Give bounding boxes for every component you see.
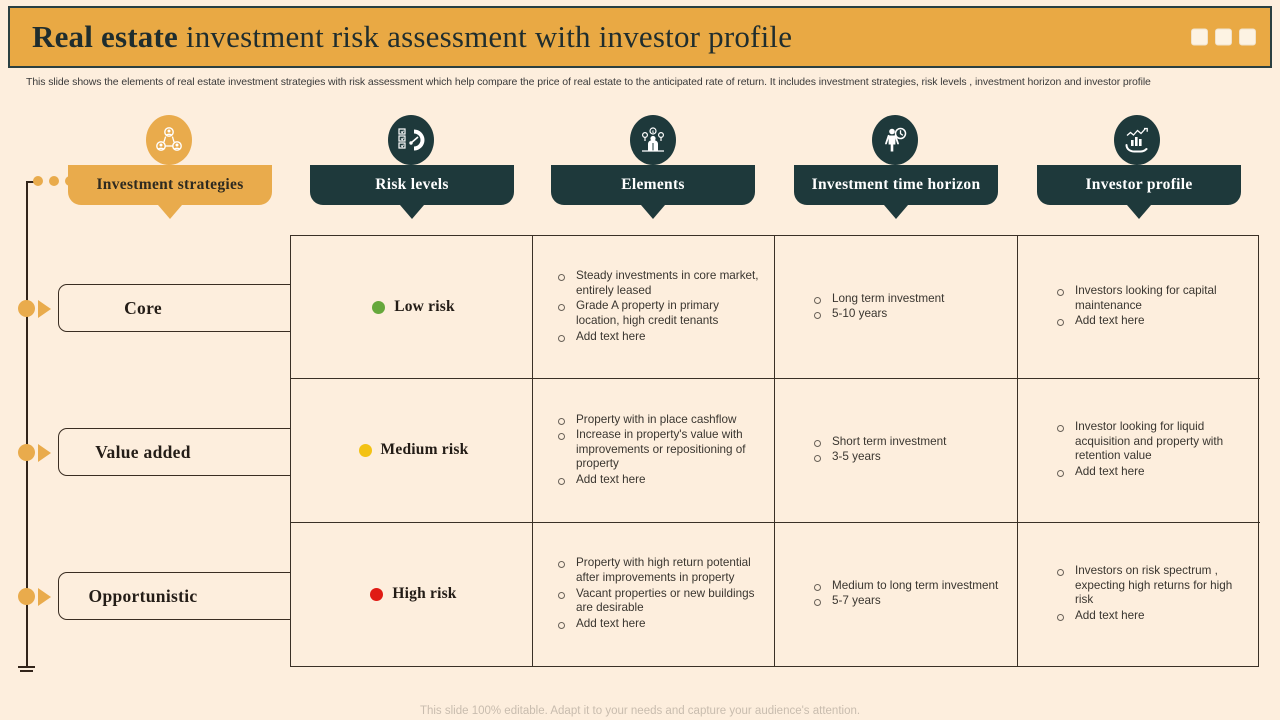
bullet-list: Medium to long term investment 5-7 years	[809, 579, 1005, 610]
people-group-icon: $	[630, 115, 676, 165]
column-header-investor-profile[interactable]: Investor profile	[1037, 165, 1241, 205]
bullet-list: Investors looking for capital maintenanc…	[1052, 284, 1248, 330]
list-item: Add text here	[553, 330, 762, 345]
rail-dot-2	[49, 176, 59, 186]
strategy-label: Value added	[95, 442, 191, 463]
risk-level-label: High risk	[392, 585, 456, 603]
risk-dot-medium-icon	[359, 444, 372, 457]
bullet-list: Investors on risk spectrum , expecting h…	[1052, 564, 1248, 624]
column-header-label: Risk levels	[375, 176, 448, 194]
page-title-bold: Real estate	[32, 19, 178, 54]
rail-node-core	[18, 300, 35, 317]
rail-arrow-core-icon	[38, 300, 51, 318]
column-header-label: Investor profile	[1085, 176, 1192, 194]
slide-description: This slide shows the elements of real es…	[26, 75, 1251, 89]
list-item: Grade A property in primary location, hi…	[553, 299, 762, 328]
footer-note: This slide 100% editable. Adapt it to yo…	[0, 705, 1280, 717]
list-item: 3-5 years	[809, 450, 1005, 465]
window-box-2[interactable]	[1215, 29, 1232, 46]
chevron-down-icon	[158, 205, 182, 219]
list-item: Investors on risk spectrum , expecting h…	[1052, 564, 1248, 608]
list-item: 5-7 years	[809, 594, 1005, 609]
column-header-risk-levels[interactable]: Risk levels	[310, 165, 514, 205]
rail-foot-line-2	[20, 670, 33, 672]
bullet-list: Long term investment 5-10 years	[809, 292, 1005, 323]
profile-cell-row-3: Investors on risk spectrum , expecting h…	[1018, 523, 1260, 666]
list-item: Investor looking for liquid acquisition …	[1052, 420, 1248, 464]
table-row: Medium risk	[291, 379, 533, 522]
horizon-cell-row-3: Medium to long term investment 5-7 years	[775, 523, 1018, 666]
rail-dot-3	[65, 176, 75, 186]
column-header-label: Elements	[621, 176, 685, 194]
horizon-cell-row-1: Long term investment 5-10 years	[775, 236, 1018, 379]
list-item: Steady investments in core market, entir…	[553, 269, 762, 298]
list-item: Property with high return potential afte…	[553, 556, 762, 585]
slide-header: Real estate investment risk assessment w…	[8, 6, 1272, 68]
strategy-label: Core	[124, 298, 162, 319]
horizon-cell-row-2: Short term investment 3-5 years	[775, 379, 1018, 522]
elements-cell-row-2: Property with in place cashflow Increase…	[533, 379, 775, 522]
risk-level-label: Low risk	[394, 298, 455, 316]
list-item: Increase in property's value with improv…	[553, 428, 762, 472]
profile-cell-row-2: Investor looking for liquid acquisition …	[1018, 379, 1260, 522]
column-header-investment-strategies[interactable]: Investment strategies	[68, 165, 272, 205]
rail-node-opportunistic	[18, 588, 35, 605]
elements-cell-row-3: Property with high return potential afte…	[533, 523, 775, 666]
bullet-list: Investor looking for liquid acquisition …	[1052, 420, 1248, 480]
strategy-label: Opportunistic	[89, 586, 198, 607]
rail-arrow-value-added-icon	[38, 444, 51, 462]
list-item: Property with in place cashflow	[553, 413, 762, 428]
column-header-elements[interactable]: Elements	[551, 165, 755, 205]
bullet-list: Property with in place cashflow Increase…	[553, 413, 762, 489]
window-box-1[interactable]	[1191, 29, 1208, 46]
list-item: Vacant properties or new buildings are d…	[553, 587, 762, 616]
list-item: Add text here	[1052, 314, 1248, 329]
rail-foot-line	[18, 666, 35, 668]
page-title: Real estate investment risk assessment w…	[32, 19, 792, 55]
rail-top-dots	[33, 176, 75, 186]
column-header-investment-time-horizon[interactable]: Investment time horizon	[794, 165, 998, 205]
risk-gauge-icon	[388, 115, 434, 165]
risk-dot-low-icon	[372, 301, 385, 314]
person-clock-icon	[872, 115, 918, 165]
list-item: 5-10 years	[809, 307, 1005, 322]
slide-canvas: Real estate investment risk assessment w…	[0, 0, 1280, 720]
growth-chart-hand-icon	[1114, 115, 1160, 165]
list-item: Add text here	[1052, 465, 1248, 480]
page-title-rest: investment risk assessment with investor…	[178, 19, 792, 54]
list-item: Long term investment	[809, 292, 1005, 307]
risk-dot-high-icon	[370, 588, 383, 601]
window-controls[interactable]	[1191, 29, 1256, 46]
rail-node-value-added	[18, 444, 35, 461]
table-row: Low risk	[291, 236, 533, 379]
table-row: High risk	[291, 523, 533, 666]
rail-arrow-opportunistic-icon	[38, 588, 51, 606]
profile-cell-row-1: Investors looking for capital maintenanc…	[1018, 236, 1260, 379]
risk-level-label: Medium risk	[381, 441, 469, 459]
risk-assessment-table: Low risk Steady investments in core mark…	[290, 235, 1259, 667]
bullet-list: Steady investments in core market, entir…	[553, 269, 762, 345]
bullet-list: Property with high return potential afte…	[553, 556, 762, 632]
list-item: Medium to long term investment	[809, 579, 1005, 594]
window-box-3[interactable]	[1239, 29, 1256, 46]
elements-cell-row-1: Steady investments in core market, entir…	[533, 236, 775, 379]
network-people-icon	[146, 115, 192, 165]
column-header-label: Investment time horizon	[812, 176, 981, 194]
list-item: Add text here	[553, 473, 762, 488]
rail-dot-1	[33, 176, 43, 186]
list-item: Add text here	[1052, 609, 1248, 624]
chevron-down-icon	[1127, 205, 1151, 219]
chevron-down-icon	[400, 205, 424, 219]
list-item: Short term investment	[809, 435, 1005, 450]
list-item: Add text here	[553, 617, 762, 632]
chevron-down-icon	[884, 205, 908, 219]
column-header-label: Investment strategies	[96, 176, 243, 194]
bullet-list: Short term investment 3-5 years	[809, 435, 1005, 466]
chevron-down-icon	[641, 205, 665, 219]
list-item: Investors looking for capital maintenanc…	[1052, 284, 1248, 313]
